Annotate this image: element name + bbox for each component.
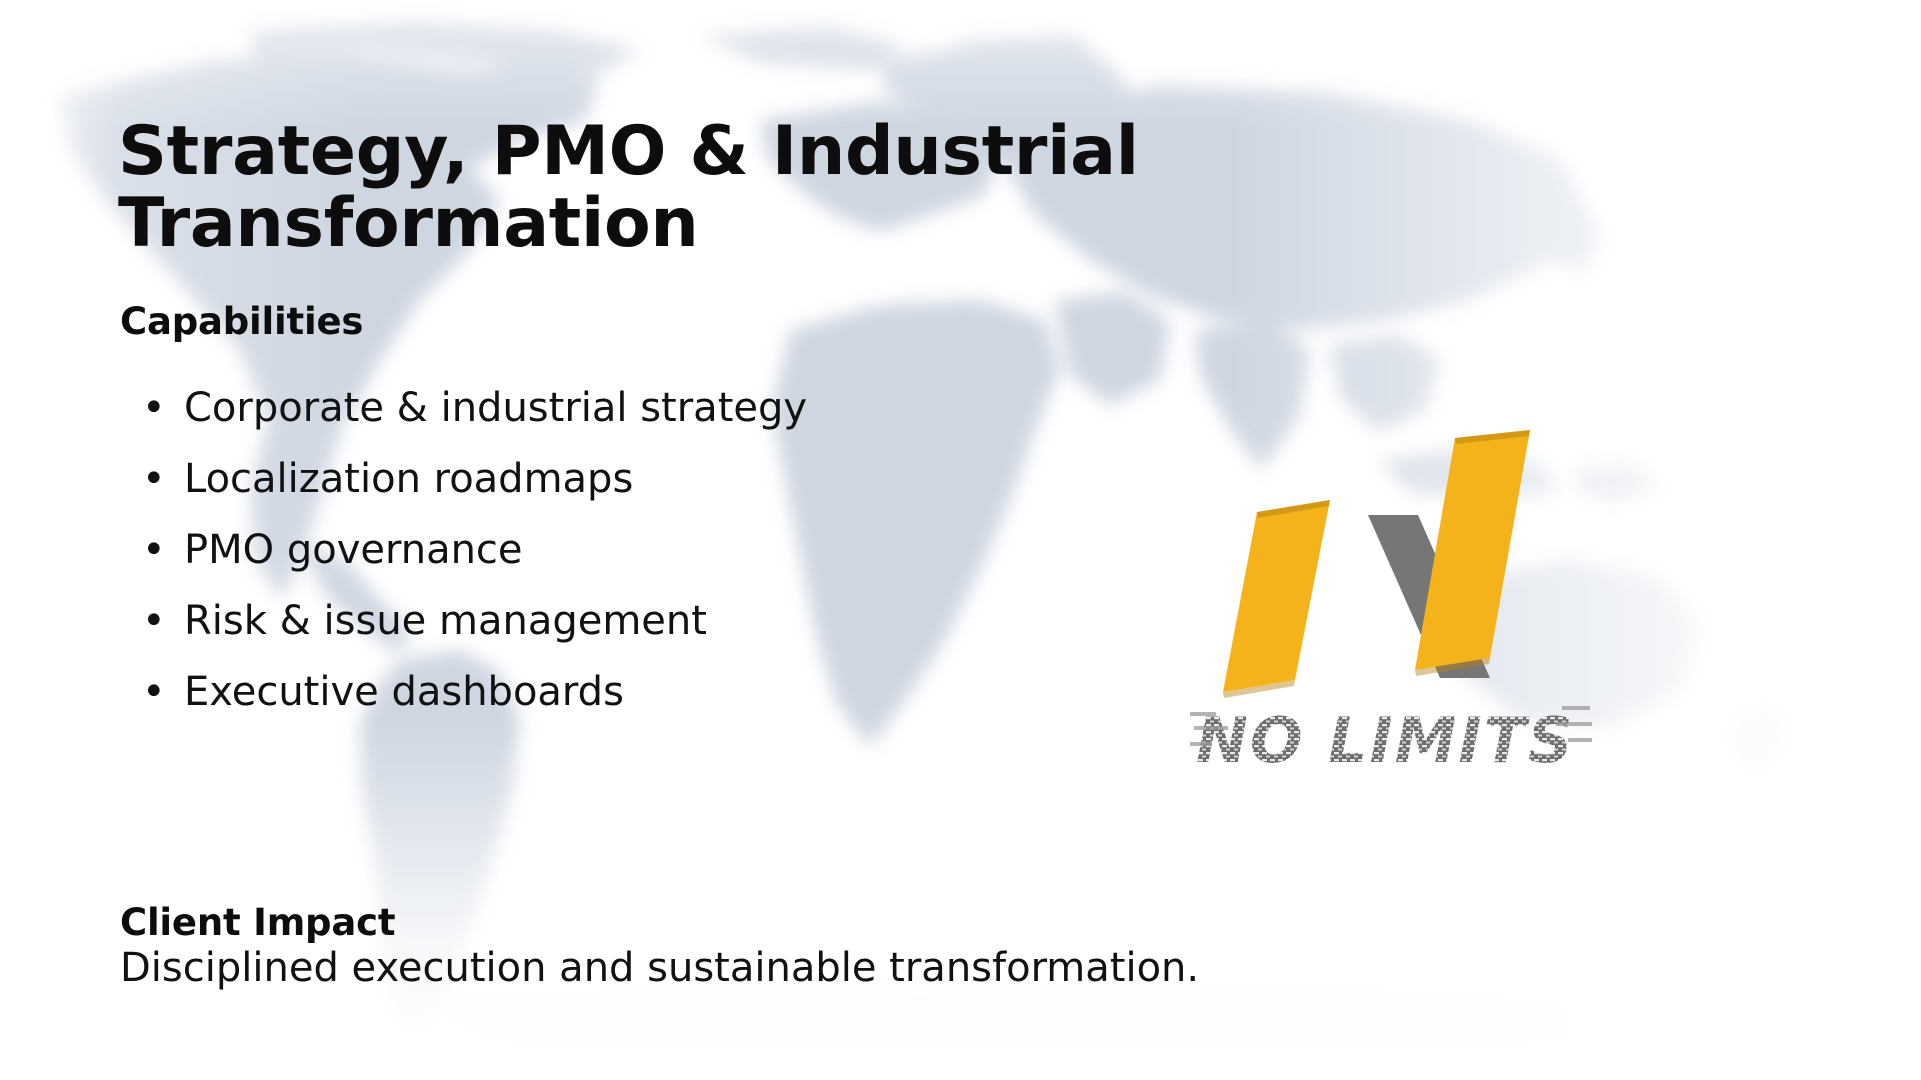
- list-item-label: Localization roadmaps: [184, 456, 633, 502]
- list-item: • PMO governance: [120, 530, 980, 570]
- slide-content: Strategy, PMO & Industrial Transformatio…: [0, 0, 1921, 1080]
- client-impact-text: Disciplined execution and sustainable tr…: [120, 945, 1420, 992]
- list-item-label: PMO governance: [184, 527, 523, 573]
- title-line-2: Transformation: [118, 184, 699, 263]
- client-impact-heading: Client Impact: [120, 900, 1420, 945]
- list-item: • Executive dashboards: [120, 672, 980, 712]
- bullet-icon: •: [142, 459, 166, 499]
- bullet-icon: •: [142, 601, 166, 641]
- logo-tagline: [1190, 690, 1610, 780]
- capabilities-list: • Corporate & industrial strategy • Loca…: [120, 388, 980, 743]
- page-title: Strategy, PMO & Industrial Transformatio…: [118, 116, 1198, 262]
- list-item-label: Executive dashboards: [184, 669, 624, 715]
- list-item-label: Corporate & industrial strategy: [184, 385, 807, 431]
- list-item: • Risk & issue management: [120, 601, 980, 641]
- capabilities-heading: Capabilities: [120, 300, 363, 343]
- no-limits-logo: NO LIMITS: [1190, 430, 1610, 790]
- presentation-slide: Strategy, PMO & Industrial Transformatio…: [0, 0, 1921, 1080]
- client-impact-block: Client Impact Disciplined execution and …: [120, 900, 1420, 992]
- bullet-icon: •: [142, 530, 166, 570]
- list-item: • Localization roadmaps: [120, 459, 980, 499]
- bullet-icon: •: [142, 388, 166, 428]
- title-line-1: Strategy, PMO & Industrial: [118, 112, 1139, 191]
- list-item: • Corporate & industrial strategy: [120, 388, 980, 428]
- list-item-label: Risk & issue management: [184, 598, 707, 644]
- bullet-icon: •: [142, 672, 166, 712]
- logo-n-left-bar: [1223, 500, 1330, 698]
